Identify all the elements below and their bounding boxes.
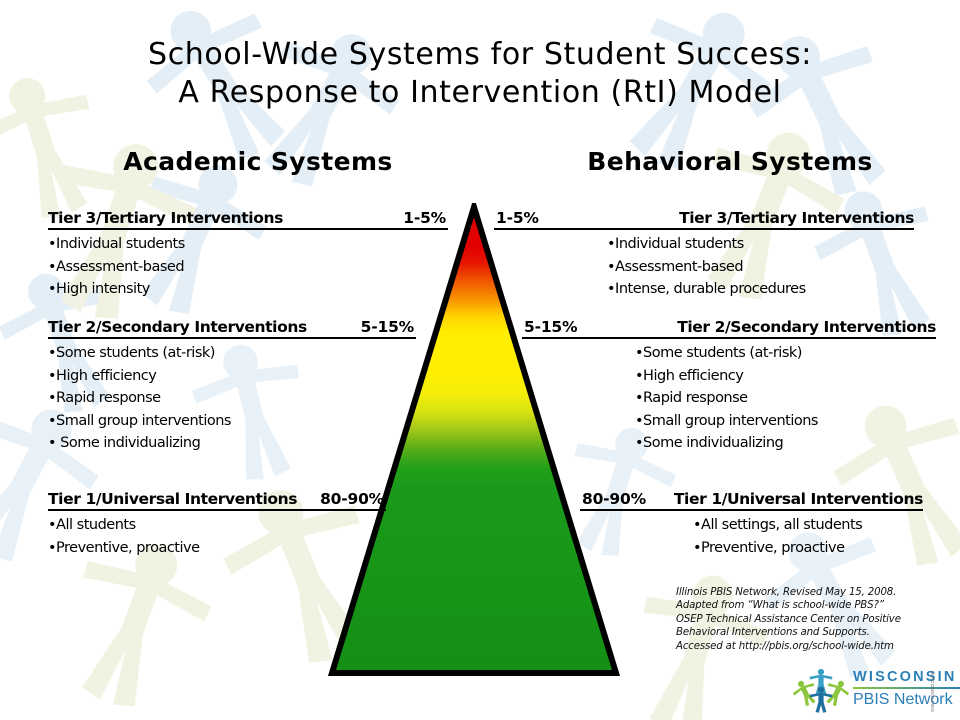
academic-systems-heading: Academic Systems (88, 147, 428, 176)
academic-tier-1-bullets: •All students •Preventive, proactive (48, 514, 386, 559)
behavioral-tier-3-title: Tier 3/Tertiary Interventions (679, 209, 914, 227)
behavioral-tier-1-header: 80-90% Tier 1/Universal Interventions (580, 489, 923, 511)
academic-tier-1-header: Tier 1/Universal Interventions 80-90% (48, 489, 386, 511)
wisconsin-pbis-network-logo: WISCONSIN PBIS Network WISCONSIN PBIS (793, 667, 953, 715)
title-line-2: A Response to Intervention (RtI) Model (0, 74, 960, 112)
attribution-line-2: Adapted from “What is school-wide PBS?” (676, 599, 946, 612)
behavioral-tier-1-percent: 80-90% (582, 490, 646, 508)
behavioral-tier-2-header: 5-15% Tier 2/Secondary Interventions (522, 317, 936, 339)
academic-tier-1: Tier 1/Universal Interventions 80-90% •A… (48, 489, 386, 575)
attribution-line-4: Behavioral Interventions and Supports. (676, 626, 946, 639)
academic-tier-2-percent: 5-15% (361, 318, 414, 336)
behavioral-tier-1-title: Tier 1/Universal Interventions (674, 490, 923, 508)
list-item: •Preventive, proactive (693, 537, 923, 560)
behavioral-tier-3: 1-5% Tier 3/Tertiary Interventions •Indi… (494, 208, 914, 317)
list-item: •Individual students (48, 233, 448, 256)
list-item: •Small group interventions (48, 410, 416, 433)
behavioral-tier-3-percent: 1-5% (496, 209, 539, 227)
list-item: •High intensity (48, 278, 448, 301)
behavioral-tier-3-bullets: •Individual students •Assessment-based •… (494, 233, 914, 301)
list-item: •Individual students (607, 233, 914, 256)
logo-text: WISCONSIN PBIS Network (853, 668, 960, 709)
behavioral-tier-3-header: 1-5% Tier 3/Tertiary Interventions (494, 208, 914, 230)
behavioral-tier-2-bullets: •Some students (at-risk) •High efficienc… (522, 342, 936, 455)
list-item: •Assessment-based (607, 256, 914, 279)
list-item: •Preventive, proactive (48, 537, 386, 560)
attribution-line-5: Accessed at http://pbis.org/school-wide.… (676, 640, 946, 653)
list-item: •Small group interventions (635, 410, 936, 433)
academic-tier-1-percent: 80-90% (320, 490, 384, 508)
list-item: •Rapid response (635, 387, 936, 410)
pbis-people-icon (793, 669, 849, 713)
list-item: •Assessment-based (48, 256, 448, 279)
attribution-line-1: Illinois PBIS Network, Revised May 15, 2… (676, 586, 946, 599)
list-item: •Intense, durable procedures (607, 278, 914, 301)
academic-tier-2: Tier 2/Secondary Interventions 5-15% •So… (48, 317, 416, 471)
behavioral-systems-heading: Behavioral Systems (560, 147, 900, 176)
list-item: •All settings, all students (693, 514, 923, 537)
logo-line-pbis-network: PBIS Network (853, 690, 960, 709)
list-item: •Some students (at-risk) (635, 342, 936, 365)
attribution-line-3: OSEP Technical Assistance Center on Posi… (676, 613, 946, 626)
behavioral-tier-1-bullets: •All settings, all students •Preventive,… (580, 514, 923, 559)
academic-tier-3-percent: 1-5% (403, 209, 446, 227)
academic-tier-2-title: Tier 2/Secondary Interventions (48, 318, 307, 336)
list-item: •High efficiency (635, 365, 936, 388)
academic-tier-1-title: Tier 1/Universal Interventions (48, 490, 297, 508)
academic-tier-3-header: Tier 3/Tertiary Interventions 1-5% (48, 208, 448, 230)
academic-tier-3: Tier 3/Tertiary Interventions 1-5% •Indi… (48, 208, 448, 317)
title-line-1: School-Wide Systems for Student Success: (0, 36, 960, 74)
behavioral-tier-2-title: Tier 2/Secondary Interventions (677, 318, 936, 336)
attribution-block: Illinois PBIS Network, Revised May 15, 2… (676, 586, 946, 653)
logo-line-wisconsin: WISCONSIN (853, 668, 960, 686)
list-item: •All students (48, 514, 386, 537)
behavioral-tier-2: 5-15% Tier 2/Secondary Interventions •So… (522, 317, 936, 471)
academic-tier-2-bullets: •Some students (at-risk) •High efficienc… (48, 342, 416, 455)
behavioral-tier-1: 80-90% Tier 1/Universal Interventions •A… (580, 489, 923, 575)
academic-tier-2-header: Tier 2/Secondary Interventions 5-15% (48, 317, 416, 339)
list-item: •Some students (at-risk) (48, 342, 416, 365)
list-item: •High efficiency (48, 365, 416, 388)
list-item: •Rapid response (48, 387, 416, 410)
academic-tier-3-title: Tier 3/Tertiary Interventions (48, 209, 283, 227)
list-item: •Some individualizing (635, 432, 936, 455)
list-item: • Some individualizing (48, 432, 416, 455)
behavioral-tier-2-percent: 5-15% (524, 318, 577, 336)
page-title: School-Wide Systems for Student Success:… (0, 36, 960, 112)
logo-microtext: WISCONSIN PBIS (930, 671, 935, 712)
logo-divider (853, 687, 960, 689)
academic-tier-3-bullets: •Individual students •Assessment-based •… (48, 233, 448, 301)
